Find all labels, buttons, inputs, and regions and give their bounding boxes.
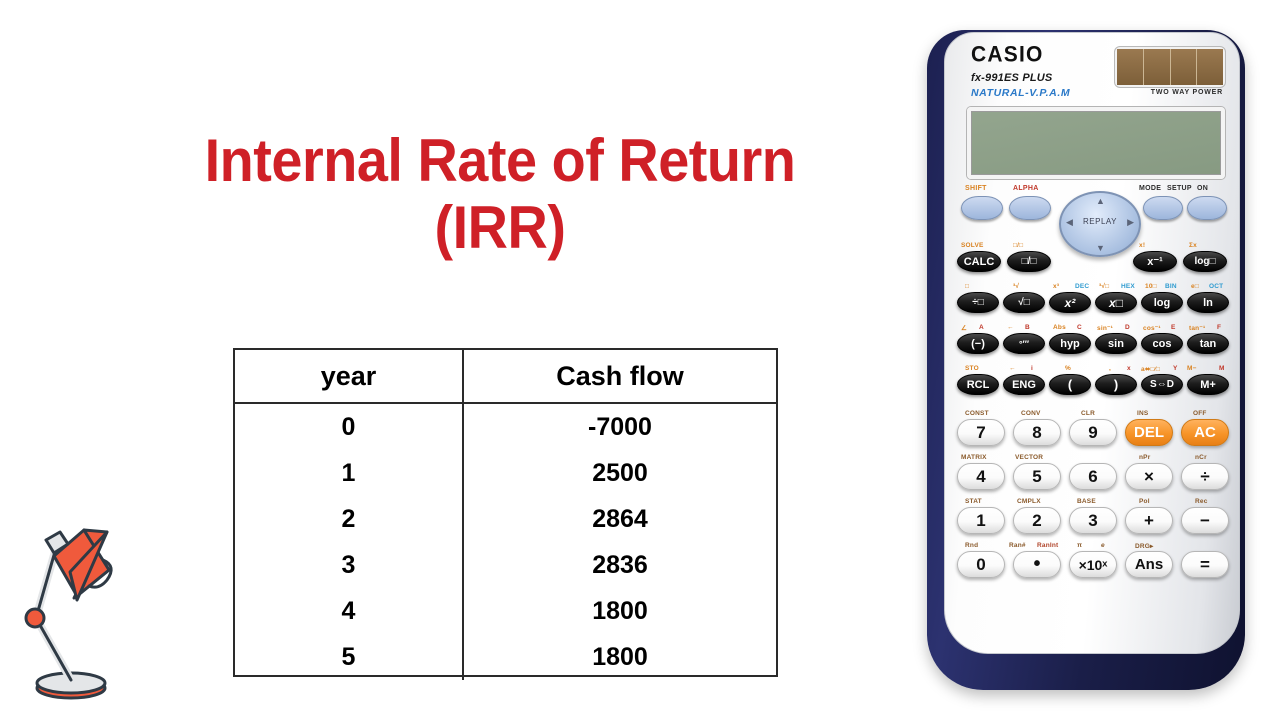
- two-way-power-label: TWO WAY POWER: [1151, 89, 1223, 96]
- key-sub-label-2: Y: [1173, 365, 1178, 372]
- key-sub-label: Ran#: [1009, 542, 1026, 549]
- cell-cash-flow: 2836: [463, 542, 776, 588]
- key-sub-label: Rnd: [965, 542, 978, 549]
- key-sub-label: ³√: [1013, 283, 1019, 290]
- cash-flow-table: year Cash flow 0 -7000 1 2500 2 2864 3 2…: [233, 348, 778, 677]
- cell-year: 4: [235, 588, 463, 634]
- key-eng[interactable]: ENG: [1003, 374, 1045, 395]
- key-sub-label-2: C: [1077, 324, 1082, 331]
- key-7[interactable]: 7: [957, 419, 1005, 446]
- key-sub-label: %: [1065, 365, 1071, 372]
- keypad-row: CONST 7 CONV 8 CLR 9 INS DEL OFF AC: [957, 411, 1229, 447]
- cell-year: 3: [235, 542, 463, 588]
- key-sub-label: INS: [1137, 410, 1148, 417]
- calculator-body: CASIO fx-991ES PLUS NATURAL-V.P.A.M TWO …: [944, 32, 1240, 654]
- keypad-row: STO RCL ← i ENG % ( , x ) a⬌□⁄□ Y S⇔D M−…: [957, 366, 1229, 399]
- mode-setup-button[interactable]: [1143, 196, 1183, 220]
- title-line-1: Internal Rate of Return: [147, 130, 854, 191]
- key-calc[interactable]: CALC: [957, 251, 1001, 272]
- key-sub-label: CONV: [1021, 410, 1041, 417]
- page-title: Internal Rate of Return (IRR): [120, 130, 880, 258]
- solar-cell: [1171, 49, 1198, 85]
- key-sub-label: 10□: [1145, 283, 1157, 290]
- key-sub-label: VECTOR: [1015, 454, 1043, 461]
- key-3[interactable]: 3: [1069, 507, 1117, 534]
- key-sub-label-2: e: [1101, 542, 1105, 549]
- key-sub-label: cos⁻¹: [1143, 324, 1161, 332]
- key-square[interactable]: x²: [1049, 292, 1091, 313]
- key-plus[interactable]: +: [1125, 507, 1173, 534]
- key-8[interactable]: 8: [1013, 419, 1061, 446]
- solar-cell: [1144, 49, 1171, 85]
- cell-year: 1: [235, 450, 463, 496]
- key-sqrt[interactable]: √□: [1003, 292, 1045, 313]
- table-row: 4 1800: [235, 588, 776, 634]
- key-sub-label: □/□: [1013, 242, 1023, 249]
- column-header-cash-flow: Cash flow: [463, 350, 776, 403]
- key-multiply[interactable]: ×: [1125, 463, 1173, 490]
- cell-year: 0: [235, 403, 463, 450]
- key-sub-label: ∠: [961, 324, 967, 332]
- key-sub-label: tan⁻¹: [1189, 324, 1205, 332]
- key-sub-label: nPr: [1139, 454, 1150, 461]
- key-sub-label: SOLVE: [961, 242, 984, 249]
- key-sub-label: MATRIX: [961, 454, 987, 461]
- key-exponent[interactable]: ×10ˣ: [1069, 551, 1117, 578]
- cell-cash-flow: 2864: [463, 496, 776, 542]
- key-negative[interactable]: (−): [957, 333, 999, 354]
- title-line-2: (IRR): [147, 197, 854, 258]
- key-sub-label-2: D: [1125, 324, 1130, 331]
- key-sub-label-2: i: [1031, 365, 1033, 372]
- key-sin[interactable]: sin: [1095, 333, 1137, 354]
- table-row: 3 2836: [235, 542, 776, 588]
- key-sub-label-2: OCT: [1209, 283, 1223, 290]
- lcd-display: [967, 107, 1225, 179]
- key-sub-label: OFF: [1193, 410, 1207, 417]
- key-sub-label-2: A: [979, 324, 984, 331]
- key-2[interactable]: 2: [1013, 507, 1061, 534]
- key-sub-label: ,: [1109, 365, 1111, 372]
- brand-logo: CASIO: [971, 42, 1044, 67]
- solar-panel: [1115, 47, 1225, 87]
- key-equals[interactable]: =: [1181, 551, 1229, 578]
- key-1[interactable]: 1: [957, 507, 1005, 534]
- table-row: 2 2864: [235, 496, 776, 542]
- key-sub-label: CMPLX: [1017, 498, 1041, 505]
- key-sub-label: e□: [1191, 283, 1199, 290]
- key-fraction[interactable]: □/□: [1007, 251, 1051, 272]
- model-label: fx-991ES PLUS: [971, 72, 1052, 84]
- key-sub-label-2: B: [1025, 324, 1030, 331]
- function-key-row: SHIFT ALPHA REPLAY ▲ ▼ ◀ ▶ MODE SETUP ON: [961, 185, 1223, 233]
- key-sub-label: sin⁻¹: [1097, 324, 1113, 332]
- key-0[interactable]: 0: [957, 551, 1005, 578]
- key-cos[interactable]: cos: [1141, 333, 1183, 354]
- shift-label: SHIFT: [965, 185, 987, 192]
- key-sub-label: Σx: [1189, 242, 1197, 249]
- key-sub-label: Rec: [1195, 498, 1208, 505]
- table-row: 1 2500: [235, 450, 776, 496]
- desk-lamp-icon: [8, 512, 148, 708]
- casio-calculator: CASIO fx-991ES PLUS NATURAL-V.P.A.M TWO …: [915, 18, 1260, 708]
- setup-label: SETUP: [1167, 185, 1192, 192]
- key-close-paren[interactable]: ): [1095, 374, 1137, 395]
- cell-cash-flow: 1800: [463, 634, 776, 680]
- column-header-year: year: [235, 350, 463, 403]
- key-sub-label-2: DEC: [1075, 283, 1089, 290]
- key-rcl[interactable]: RCL: [957, 374, 999, 395]
- key-open-paren[interactable]: (: [1049, 374, 1091, 395]
- on-label: ON: [1197, 185, 1208, 192]
- on-button[interactable]: [1187, 196, 1227, 220]
- key-log-base[interactable]: log□: [1183, 251, 1227, 272]
- key-ac[interactable]: AC: [1181, 419, 1229, 446]
- cell-cash-flow: -7000: [463, 403, 776, 450]
- key-sub-label: ³√□: [1099, 283, 1109, 290]
- alpha-label: ALPHA: [1013, 185, 1039, 192]
- key-sub-label: STO: [965, 365, 979, 372]
- keypad-row: ∠ A (−) ← B °′″ Abs C hyp sin⁻¹ D sin co…: [957, 325, 1229, 358]
- key-sub-label: STAT: [965, 498, 982, 505]
- cell-year: 2: [235, 496, 463, 542]
- key-sub-label: M−: [1187, 365, 1197, 372]
- cell-year: 5: [235, 634, 463, 680]
- mode-label: MODE: [1139, 185, 1161, 192]
- key-sub-label: x³: [1053, 283, 1059, 290]
- key-sub-label: CONST: [965, 410, 989, 417]
- alpha-button[interactable]: [1009, 196, 1051, 220]
- key-sub-label: ←: [1007, 324, 1014, 331]
- key-sub-label-2: F: [1217, 324, 1221, 331]
- table-row: 5 1800: [235, 634, 776, 680]
- key-reciprocal[interactable]: x⁻¹: [1133, 251, 1177, 272]
- vpam-label: NATURAL-V.P.A.M: [971, 87, 1070, 99]
- key-sub-label: a⬌□⁄□: [1141, 365, 1160, 373]
- solar-cell: [1117, 49, 1144, 85]
- solar-cell: [1197, 49, 1223, 85]
- key-decimal-point[interactable]: •: [1013, 551, 1061, 578]
- shift-button[interactable]: [961, 196, 1003, 220]
- table-row: 0 -7000: [235, 403, 776, 450]
- key-sub-label-2: x: [1127, 365, 1131, 372]
- key-sd-toggle[interactable]: S⇔D: [1141, 374, 1183, 395]
- key-memory-plus[interactable]: M+: [1187, 374, 1229, 395]
- key-sub-label-2: RanInt: [1037, 542, 1058, 549]
- key-sub-label: □: [965, 283, 969, 290]
- key-sub-label-2: M: [1219, 365, 1225, 372]
- key-log[interactable]: log: [1141, 292, 1183, 313]
- key-sub-label: CLR: [1081, 410, 1095, 417]
- table-header-row: year Cash flow: [235, 350, 776, 403]
- keypad-row: STAT 1 CMPLX 2 BASE 3 Pol + Rec −: [957, 499, 1229, 535]
- key-ln[interactable]: ln: [1187, 292, 1229, 313]
- keypad-row: Rnd 0 Ran# RanInt • π e ×10ˣ DRG▸ Ans =: [957, 543, 1229, 579]
- keypad-row: MATRIX 4 VECTOR 5 6 nPr × nCr ÷: [957, 455, 1229, 491]
- key-sub-label-2: E: [1171, 324, 1176, 331]
- key-sub-label-2: BIN: [1165, 283, 1177, 290]
- keypad-row: □ ÷□ ³√ √□ x³ DEC x² ³√□ HEX x□ 10□ BIN …: [957, 284, 1229, 317]
- key-sub-label: Abs: [1053, 324, 1066, 331]
- key-5[interactable]: 5: [1013, 463, 1061, 490]
- cell-cash-flow: 1800: [463, 588, 776, 634]
- key-9[interactable]: 9: [1069, 419, 1117, 446]
- key-sub-label: BASE: [1077, 498, 1096, 505]
- key-sub-label-2: HEX: [1121, 283, 1135, 290]
- key-sub-label: Pol: [1139, 498, 1150, 505]
- key-4[interactable]: 4: [957, 463, 1005, 490]
- key-ans[interactable]: Ans: [1125, 551, 1173, 578]
- cell-cash-flow: 2500: [463, 450, 776, 496]
- keypad: SOLVE CALC □/□ □/□ x! x⁻¹ Σx log□ □ ÷□ ³…: [957, 243, 1229, 579]
- key-divide[interactable]: ÷: [1181, 463, 1229, 490]
- key-power[interactable]: x□: [1095, 292, 1137, 313]
- key-6[interactable]: 6: [1069, 463, 1117, 490]
- key-mixed-fraction[interactable]: ÷□: [957, 292, 999, 313]
- key-minus[interactable]: −: [1181, 507, 1229, 534]
- key-sub-label: nCr: [1195, 454, 1207, 461]
- key-tan[interactable]: tan: [1187, 333, 1229, 354]
- key-sub-label: DRG▸: [1135, 542, 1154, 550]
- key-sub-label: x!: [1139, 242, 1145, 249]
- key-degree[interactable]: °′″: [1003, 333, 1045, 354]
- key-del[interactable]: DEL: [1125, 419, 1173, 446]
- key-hyp[interactable]: hyp: [1049, 333, 1091, 354]
- keypad-row: SOLVE CALC □/□ □/□ x! x⁻¹ Σx log□: [957, 243, 1229, 276]
- key-sub-label: ←: [1009, 365, 1016, 372]
- key-sub-label: π: [1077, 542, 1082, 549]
